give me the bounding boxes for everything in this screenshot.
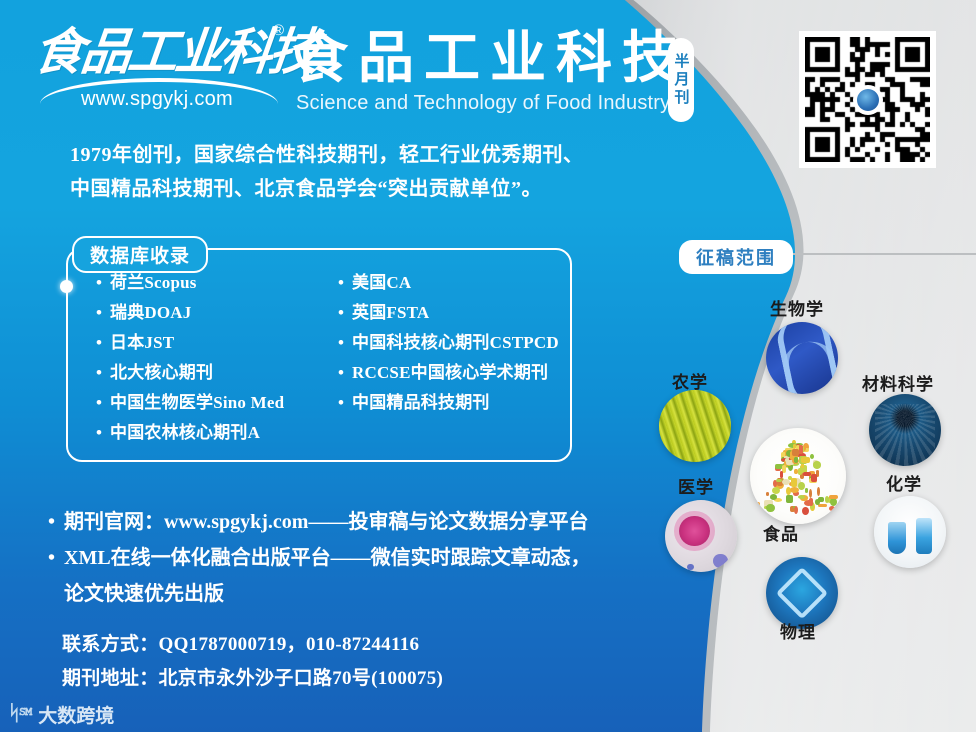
food-item-icon xyxy=(813,461,820,468)
food-item-icon xyxy=(817,487,820,496)
food-item-icon xyxy=(802,507,809,515)
intro-line-1: 1979年创刊，国家综合性科技期刊，轻工行业优秀期刊、 xyxy=(70,138,670,172)
list-item: 英国FSTA xyxy=(338,298,566,328)
subject-label-food: 食品 xyxy=(763,520,799,545)
food-item-icon xyxy=(815,499,820,505)
contact-line-2: 期刊地址：北京市永外沙子口路70号(100075) xyxy=(62,662,662,696)
watermark-text: 大数跨境 xyxy=(38,701,114,728)
food-item-icon xyxy=(790,487,799,493)
scope-divider xyxy=(790,253,976,255)
subject-label-agriculture: 农学 xyxy=(672,368,708,393)
food-item-icon xyxy=(801,457,809,462)
wheat-icon xyxy=(659,390,731,462)
food-item-icon xyxy=(794,506,798,514)
contact-line-1: 联系方式：QQ1787000719，010-87244116 xyxy=(62,628,662,662)
database-columns: 荷兰Scopus瑞典DOAJ日本JST北大核心期刊中国生物医学Sino Med中… xyxy=(96,268,566,448)
registered-icon: ® xyxy=(273,22,284,39)
page-title: 食品工业科技 xyxy=(292,28,688,90)
food-item-icon xyxy=(766,504,774,512)
food-item-icon xyxy=(809,498,813,506)
food-item-icon xyxy=(803,472,811,476)
list-item: 瑞典DOAJ xyxy=(96,298,324,328)
list-item: 日本JST xyxy=(96,328,324,358)
journal-logo: 食品工业科技 ® www.spgykj.com xyxy=(34,24,280,116)
food-item-icon xyxy=(798,468,802,476)
platform-list: 期刊官网：www.spgykj.com——投审稿与论文数据分享平台 XML在线一… xyxy=(48,504,658,612)
list-item: 中国农林核心期刊A xyxy=(96,418,324,448)
material-icon xyxy=(869,394,941,466)
food-item-icon xyxy=(786,495,793,503)
database-right-column: 美国CA英国FSTA中国科技核心期刊CSTPCDRCCSE中国核心学术期刊中国精… xyxy=(338,268,566,448)
frequency-badge: 半月刊 xyxy=(668,38,694,122)
database-box-marker-icon xyxy=(60,280,73,293)
list-item: 中国生物医学Sino Med xyxy=(96,388,324,418)
scope-section-label: 征稿范围 xyxy=(679,240,793,274)
logo-url-text: www.spgykj.com xyxy=(34,88,280,111)
food-item-icon xyxy=(798,482,805,490)
dna-icon xyxy=(766,322,838,394)
list-item: 荷兰Scopus xyxy=(96,268,324,298)
food-item-icon xyxy=(816,470,819,477)
list-item: RCCSE中国核心学术期刊 xyxy=(338,358,566,388)
list-item: 美国CA xyxy=(338,268,566,298)
list-item: 北大核心期刊 xyxy=(96,358,324,388)
intro-text: 1979年创刊，国家综合性科技期刊，轻工行业优秀期刊、 中国精品科技期刊、北京食… xyxy=(70,138,670,206)
subject-circle-materials xyxy=(869,394,941,466)
wechat-qr-code[interactable] xyxy=(799,31,936,168)
subject-label-materials: 材料科学 xyxy=(862,370,934,395)
logo-cn-text: 食品工业科技 xyxy=(31,24,283,80)
frequency-badge-label: 半月刊 xyxy=(671,53,692,107)
list-item: 中国科技核心期刊CSTPCD xyxy=(338,328,566,358)
qr-center-logo-icon xyxy=(853,85,883,115)
page-subtitle: Science and Technology of Food Industry xyxy=(296,92,670,115)
poster-root: 食品工业科技 ® www.spgykj.com 食品工业科技 Science a… xyxy=(0,0,976,732)
platform-item-xml: XML在线一体化融合出版平台——微信实时跟踪文章动态， xyxy=(48,540,658,576)
contact-info: 联系方式：QQ1787000719，010-87244116 期刊地址：北京市永… xyxy=(62,628,662,696)
food-item-icon xyxy=(754,509,758,513)
platform-item-website: 期刊官网：www.spgykj.com——投审稿与论文数据分享平台 xyxy=(48,504,658,540)
food-item-icon xyxy=(829,506,835,511)
food-item-icon xyxy=(780,471,783,478)
food-item-icon xyxy=(809,489,812,498)
database-left-column: 荷兰Scopus瑞典DOAJ日本JST北大核心期刊中国生物医学Sino Med中… xyxy=(96,268,324,448)
watermark-logo-icon: ᛋ℠ xyxy=(8,702,31,726)
subject-label-chemistry: 化学 xyxy=(886,470,922,495)
subject-circle-biology xyxy=(766,322,838,394)
subject-label-medicine: 医学 xyxy=(678,473,714,498)
food-item-icon xyxy=(766,492,770,496)
list-item: 中国精品科技期刊 xyxy=(338,388,566,418)
food-item-icon xyxy=(791,478,797,486)
food-item-icon xyxy=(790,508,795,512)
food-item-icon xyxy=(829,495,838,499)
food-item-icon xyxy=(811,474,816,482)
food-pyramid-icon xyxy=(750,428,846,524)
food-item-icon xyxy=(818,504,827,507)
food-item-icon xyxy=(830,498,837,506)
subject-circle-chemistry xyxy=(874,496,946,568)
subject-circle-agriculture xyxy=(659,390,731,462)
subject-circle-food xyxy=(750,428,846,524)
food-item-icon xyxy=(799,445,803,454)
intro-line-2: 中国精品科技期刊、北京食品学会“突出贡献单位”。 xyxy=(70,172,670,206)
header: 食品工业科技 ® www.spgykj.com 食品工业科技 Science a… xyxy=(0,0,700,125)
subject-circle-medicine xyxy=(665,500,737,572)
food-item-icon xyxy=(785,458,789,462)
subject-label-biology: 生物学 xyxy=(770,295,824,320)
subject-label-physics: 物理 xyxy=(780,618,816,643)
platform-item-xml-cont: 论文快速优先出版 xyxy=(48,576,658,612)
watermark: ᛋ℠ 大数跨境 xyxy=(8,700,114,728)
flask-icon xyxy=(874,496,946,568)
food-item-icon xyxy=(805,488,808,493)
food-item-icon xyxy=(810,454,815,460)
virus-icon xyxy=(665,500,737,572)
food-item-icon xyxy=(794,457,798,463)
food-item-icon xyxy=(772,487,780,494)
